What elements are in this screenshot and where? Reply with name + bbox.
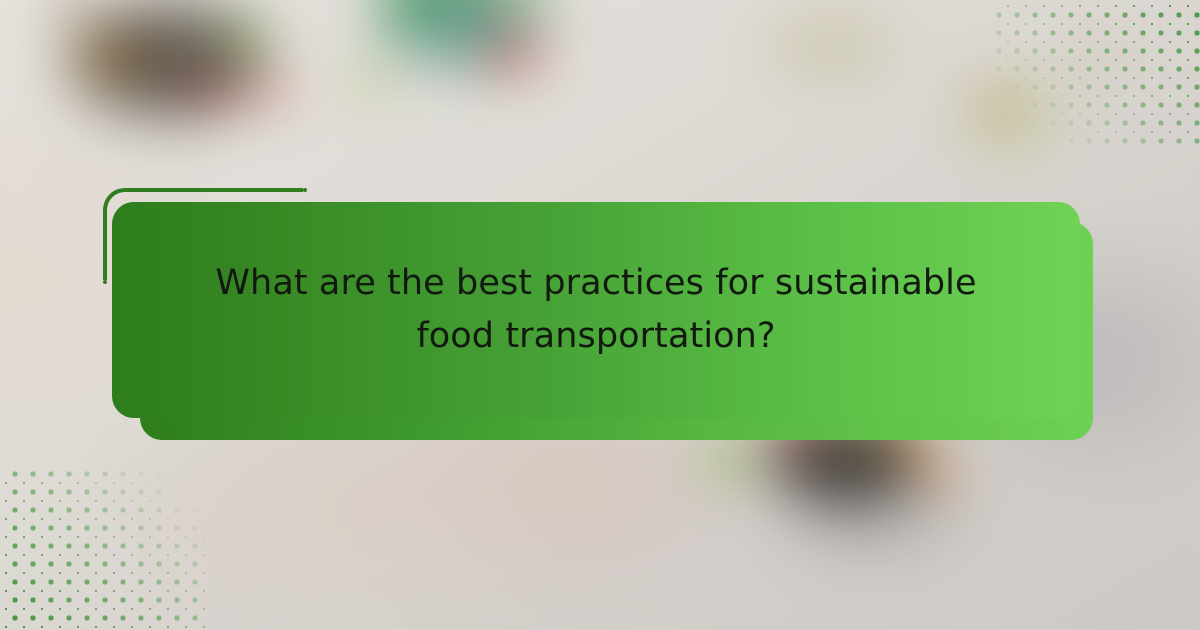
dot-grid-top-right-icon xyxy=(996,0,1200,144)
question-text: What are the best practices for sustaina… xyxy=(112,257,1080,363)
question-card: What are the best practices for sustaina… xyxy=(112,202,1080,418)
question-card-graphic: What are the best practices for sustaina… xyxy=(0,0,1200,630)
dot-grid-bottom-left-icon xyxy=(0,471,209,630)
